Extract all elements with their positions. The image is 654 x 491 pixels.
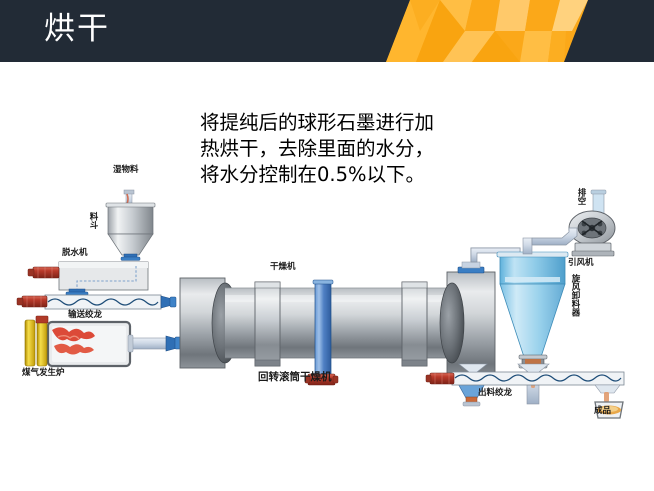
label-dehydrator: 脱水机	[62, 248, 88, 258]
label-gas-furnace: 煤气发生炉	[22, 368, 65, 378]
dehydrator-graphic	[28, 262, 148, 295]
process-flow-diagram: 湿物料 料斗 脱水机 输送绞龙 煤气发生炉 干燥机 回转滚筒干燥机 排空 引风机…	[0, 150, 654, 420]
label-finished-product: 成品	[594, 406, 611, 416]
label-induced-draft-fan: 引风机	[568, 258, 594, 268]
label-dryer: 干燥机	[270, 262, 296, 272]
description-line-1: 将提纯后的球形石墨进行加	[200, 110, 530, 136]
title-bar: 烘干	[0, 0, 654, 62]
hopper-graphic	[106, 203, 155, 260]
label-discharge-auger: 出料绞龙	[478, 388, 512, 398]
label-feed-auger: 输送绞龙	[68, 310, 102, 320]
label-cyclone-discharger: 旋风卸料器	[570, 274, 579, 317]
label-wet-material: 湿物料	[113, 165, 139, 175]
label-rotary-drum-dryer: 回转滚筒干燥机	[258, 372, 332, 382]
gas-furnace-graphic	[25, 316, 181, 366]
page-title: 烘干	[44, 7, 110, 51]
induced-draft-fan-graphic	[532, 190, 615, 256]
feed-auger-graphic	[17, 295, 176, 309]
label-vent: 排空	[576, 188, 585, 205]
label-hopper: 料斗	[88, 212, 97, 229]
